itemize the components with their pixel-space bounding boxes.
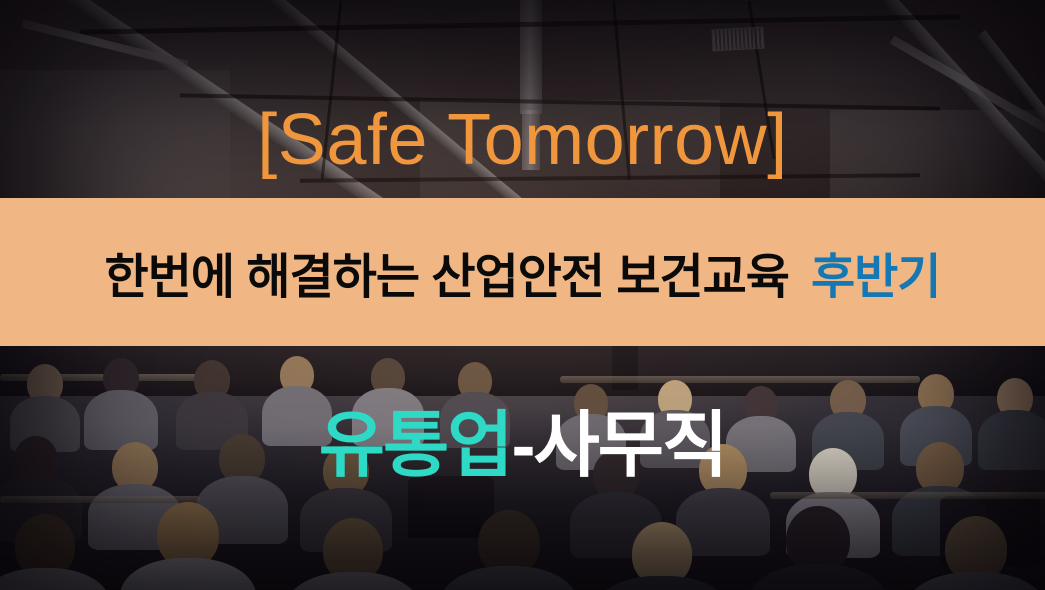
table-edge-mid-right [770, 492, 1045, 499]
ceiling-vent-panel [711, 27, 764, 52]
audience-person [286, 518, 420, 590]
audience-person [440, 510, 578, 590]
audience-person [0, 514, 110, 590]
highlight-band: 한번에 해결하는 산업안전 보건교육 후반기 [0, 198, 1045, 346]
audience-person [120, 502, 256, 590]
subtitle: 유통업-사무직 [0, 408, 1045, 486]
ceiling-duct-vertical [520, 0, 542, 114]
audience-person [906, 516, 1045, 590]
page-title: [Safe Tomorrow] [0, 104, 1045, 176]
audience-person [594, 522, 730, 590]
subtitle-role: -사무직 [512, 406, 727, 486]
subtitle-industry: 유통업 [319, 406, 512, 486]
highlight-band-text: 한번에 해결하는 산업안전 보건교육 후반기 [105, 237, 941, 307]
band-accent-text: 후반기 [811, 237, 940, 307]
course-promo-banner: [Safe Tomorrow] 한번에 해결하는 산업안전 보건교육 후반기 유… [0, 0, 1045, 590]
audience-person [748, 506, 888, 590]
band-main-text: 한번에 해결하는 산업안전 보건교육 [105, 237, 789, 307]
